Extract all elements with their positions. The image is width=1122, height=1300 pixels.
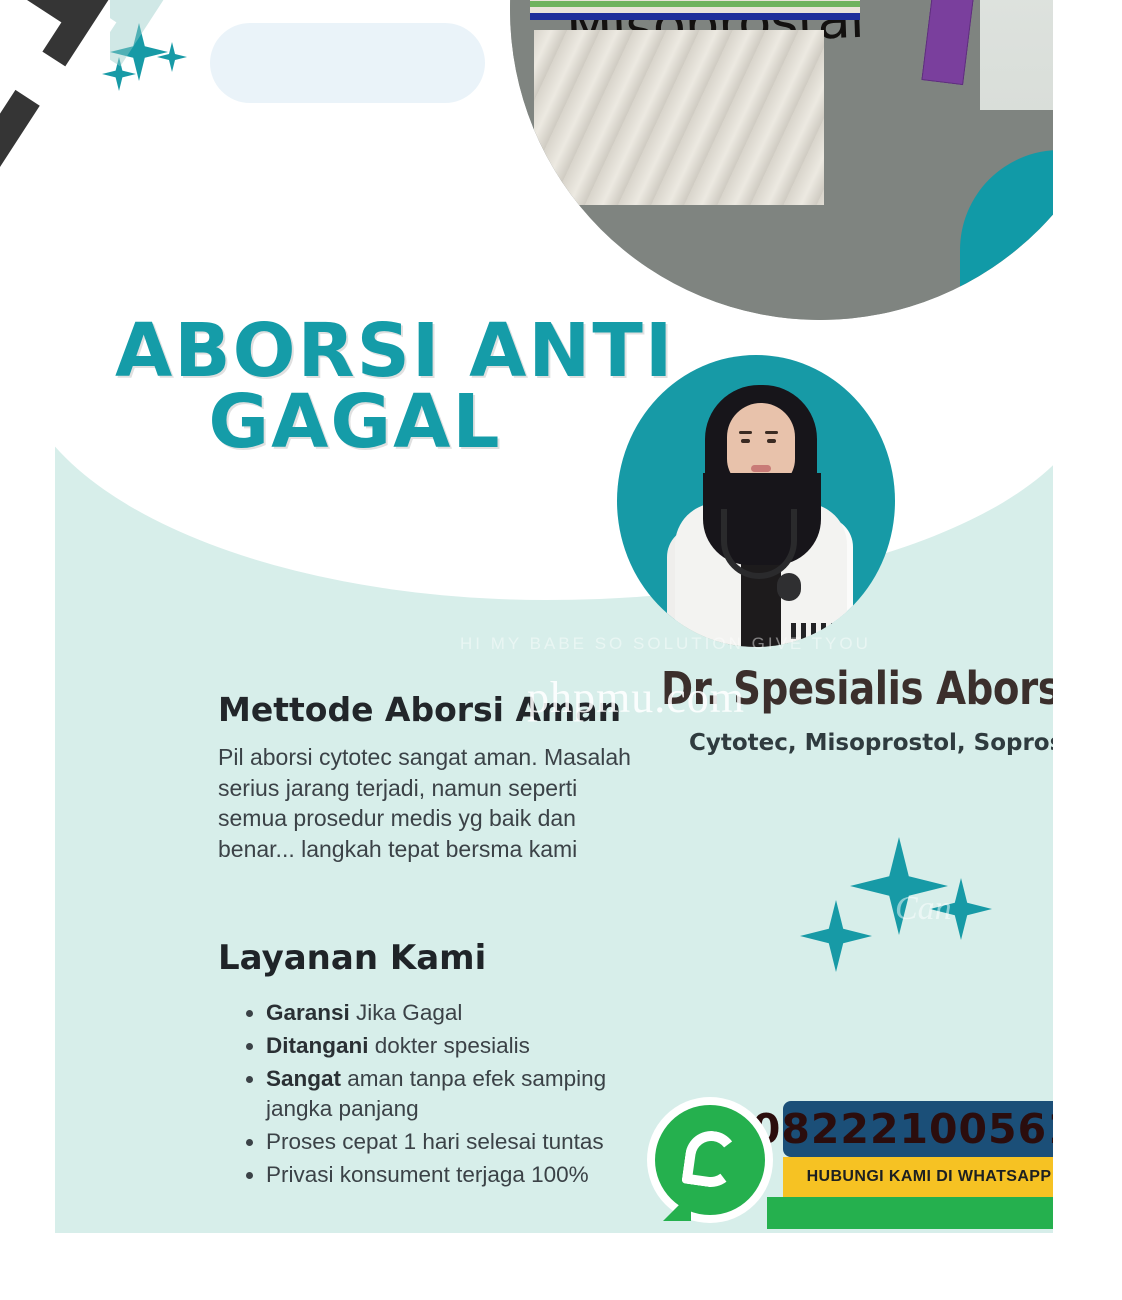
cta-phone-number: 082221005617 bbox=[752, 1105, 1053, 1153]
poster-stage: Misoprostal SOPROS MISOPROSTOL SOPROS MI… bbox=[0, 0, 1122, 1300]
whatsapp-cta[interactable]: HUBUNGI KAMI DI WHATSAPP 082221005617 bbox=[655, 1095, 1053, 1233]
service-item-strong: Garansi bbox=[266, 1000, 350, 1025]
mouth bbox=[751, 465, 771, 472]
sparkle-icon bbox=[850, 837, 948, 935]
cta-green-bar bbox=[767, 1197, 1053, 1229]
doctor-avatar bbox=[617, 355, 895, 647]
cta-phone-plate[interactable]: 082221005617 bbox=[783, 1101, 1053, 1157]
poster-card: Misoprostal SOPROS MISOPROSTOL SOPROS MI… bbox=[55, 0, 1053, 1233]
services-list: Garansi Jika GagalDitangani dokter spesi… bbox=[240, 998, 670, 1193]
blue-blob-decoration bbox=[210, 23, 485, 103]
headline-line-2: GAGAL bbox=[115, 387, 715, 458]
right-section-subheading: Cytotec, Misoprostol, Sopros bbox=[689, 730, 1053, 756]
medicine-box: PROS Miso PROS Miso PROS bbox=[980, 0, 1053, 110]
sparkle-icon bbox=[800, 900, 872, 972]
whatsapp-icon[interactable] bbox=[655, 1105, 765, 1215]
service-item: Sangat aman tanpa efek samping jangka pa… bbox=[266, 1064, 670, 1126]
service-item-strong: Ditangani bbox=[266, 1033, 369, 1058]
services-heading: Layanan Kami bbox=[218, 938, 486, 978]
right-section-heading: Dr. Spesialis Aborsi bbox=[661, 662, 1005, 715]
page-title: ABORSI ANTI GAGAL bbox=[115, 316, 715, 458]
eye-right bbox=[767, 439, 776, 443]
eyebrow-right bbox=[765, 431, 778, 434]
left-section-heading: Mettode Aborsi Aman bbox=[218, 690, 621, 729]
phone-handset-icon bbox=[685, 1131, 737, 1187]
eye-left bbox=[741, 439, 750, 443]
service-item: Ditangani dokter spesialis bbox=[266, 1031, 670, 1062]
stethoscope-bell-icon bbox=[777, 573, 801, 601]
left-section-body: Pil aborsi cytotec sangat aman. Masalah … bbox=[218, 742, 648, 864]
service-item: Privasi konsument terjaga 100% bbox=[266, 1160, 670, 1191]
doctor-photo bbox=[661, 377, 857, 647]
product-photo-circle: Misoprostal SOPROS MISOPROSTOL SOPROS MI… bbox=[510, 0, 1053, 320]
service-item-strong: Sangat bbox=[266, 1066, 341, 1091]
service-item: Garansi Jika Gagal bbox=[266, 998, 670, 1029]
service-item: Proses cepat 1 hari selesai tuntas bbox=[266, 1127, 670, 1158]
blister-strip-2 bbox=[534, 30, 824, 205]
eyebrow-left bbox=[739, 431, 752, 434]
sleeve-cuff bbox=[791, 623, 839, 639]
cta-label[interactable]: HUBUNGI KAMI DI WHATSAPP bbox=[783, 1157, 1053, 1197]
blister-strip-1: SOPROS MISOPROSTOL SOPROS MISOPROSTOL SO… bbox=[530, 0, 860, 20]
